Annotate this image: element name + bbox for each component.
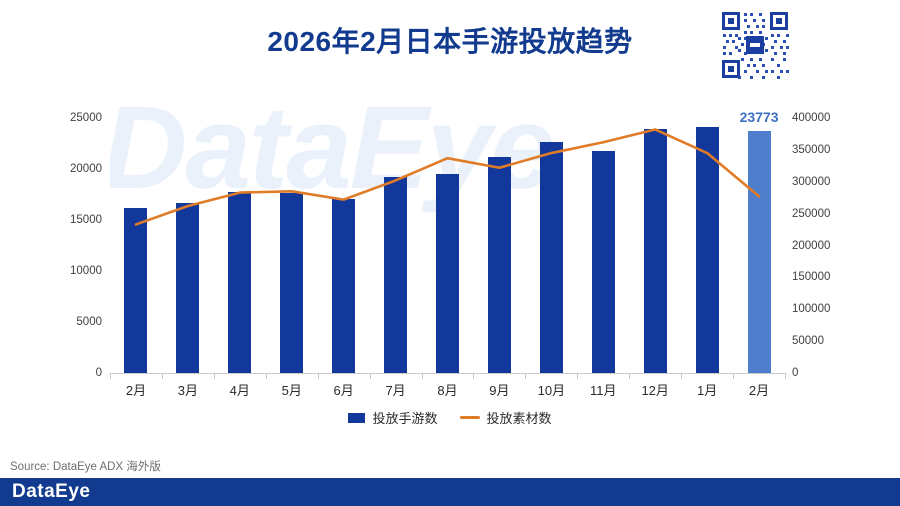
x-axis-tick	[473, 374, 474, 379]
line-path	[136, 129, 759, 224]
y-axis-right-tick: 350000	[792, 144, 830, 156]
x-axis-tick	[370, 374, 371, 379]
x-axis-label: 4月	[230, 380, 250, 399]
x-axis-label: 8月	[437, 380, 457, 399]
y-axis-left-tick: 0	[42, 367, 102, 379]
brand-logo: DataEye	[12, 481, 91, 503]
x-axis-label: 9月	[489, 380, 509, 399]
x-axis-tick	[525, 374, 526, 379]
x-axis-tick	[266, 374, 267, 379]
x-axis-tick	[785, 374, 786, 379]
y-axis-right-tick: 150000	[792, 271, 830, 283]
legend-label: 投放手游数	[372, 408, 437, 427]
x-axis-label: 3月	[178, 380, 198, 399]
x-axis-tick	[162, 374, 163, 379]
x-axis-tick	[422, 374, 423, 379]
x-axis-label: 11月	[590, 380, 617, 399]
data-label: 23773	[740, 109, 779, 125]
x-axis-tick	[681, 374, 682, 379]
x-axis-label: 2月	[749, 380, 769, 399]
legend-label: 投放素材数	[487, 408, 552, 427]
y-axis-right-tick: 0	[792, 367, 798, 379]
y-axis-right: 0500001000001500002000002500003000003500…	[792, 0, 872, 506]
x-axis-label: 1月	[697, 380, 717, 399]
y-axis-right-tick: 250000	[792, 208, 830, 220]
y-axis-right-tick: 50000	[792, 335, 824, 347]
y-axis-right-tick: 100000	[792, 303, 830, 315]
x-axis-label: 6月	[334, 380, 354, 399]
x-axis-tick	[629, 374, 630, 379]
legend-bar-swatch-icon	[348, 413, 365, 423]
x-axis-tick	[214, 374, 215, 379]
x-axis-line	[110, 373, 786, 374]
x-axis-label: 2月	[126, 380, 146, 399]
y-axis-left-tick: 5000	[42, 316, 102, 328]
chart-page: 2026年2月日本手游投放趋势	[0, 0, 900, 506]
y-axis-left-tick: 25000	[42, 112, 102, 124]
line-series	[110, 118, 785, 373]
x-axis-tick	[318, 374, 319, 379]
y-axis-left-tick: 10000	[42, 265, 102, 277]
legend-line-swatch-icon	[460, 416, 480, 419]
y-axis-left-tick: 20000	[42, 163, 102, 175]
y-axis-left-tick: 15000	[42, 214, 102, 226]
x-axis-label: 7月	[385, 380, 405, 399]
y-axis-right-tick: 300000	[792, 176, 830, 188]
source-note: Source: DataEye ADX 海外版	[10, 458, 161, 474]
y-axis-right-tick: 400000	[792, 112, 830, 124]
legend: 投放手游数投放素材数	[0, 408, 900, 427]
qr-code-icon[interactable]	[718, 8, 792, 82]
legend-item[interactable]: 投放素材数	[460, 408, 552, 427]
x-axis-label: 12月	[641, 380, 668, 399]
y-axis-right-tick: 200000	[792, 240, 830, 252]
legend-item[interactable]: 投放手游数	[348, 408, 437, 427]
plot-area: DataEye	[110, 118, 785, 373]
footer-bar: DataEye	[0, 478, 900, 506]
x-axis-tick	[733, 374, 734, 379]
x-axis-tick	[110, 374, 111, 379]
x-axis-label: 10月	[538, 380, 565, 399]
y-axis-left: 0500010000150002000025000	[40, 0, 102, 506]
x-axis-label: 5月	[282, 380, 302, 399]
x-axis-tick	[577, 374, 578, 379]
